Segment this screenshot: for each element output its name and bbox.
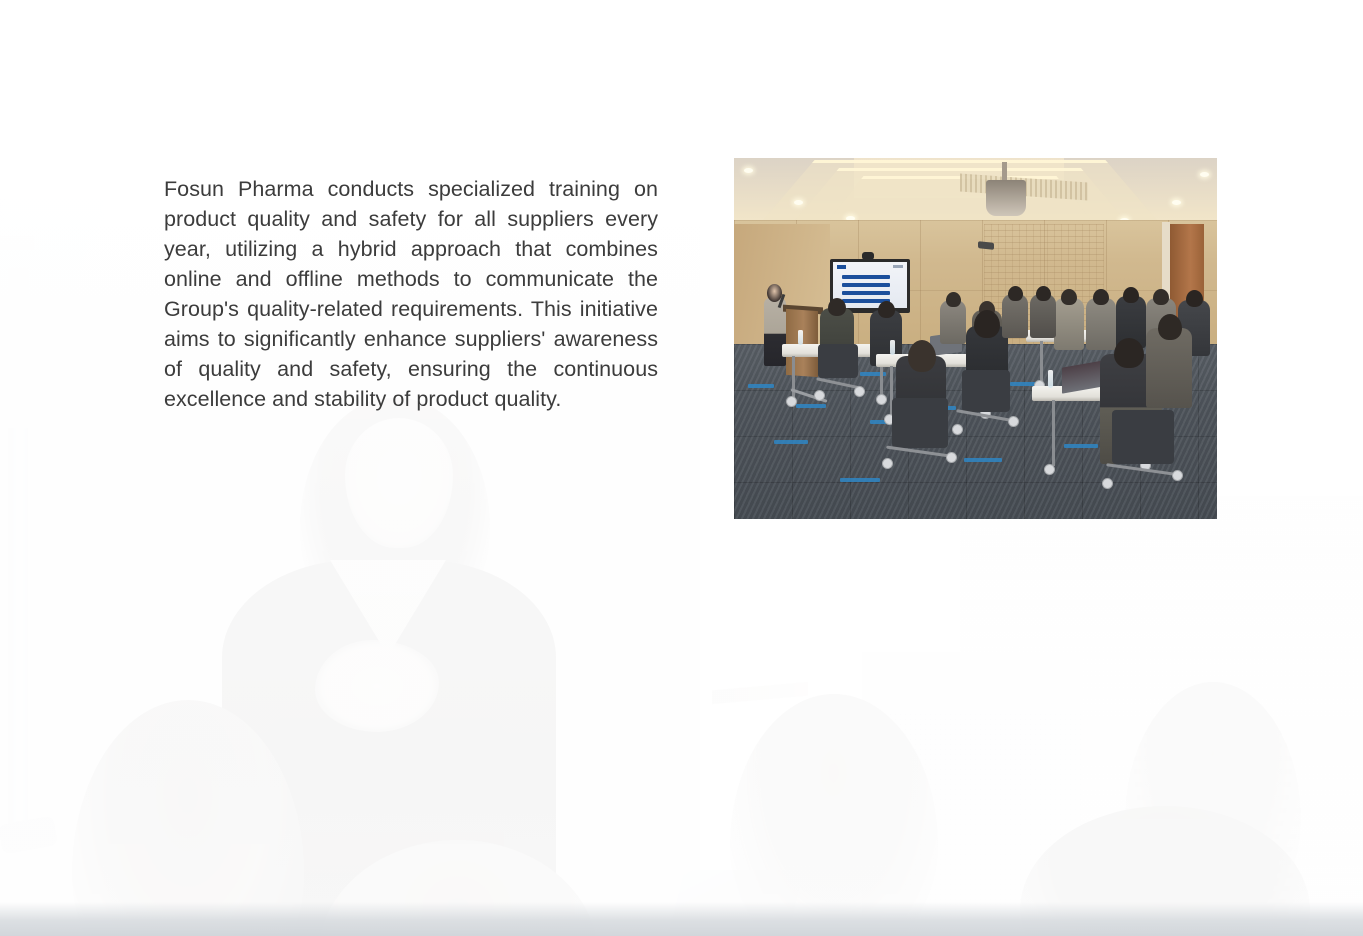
photo-attendee-head: [908, 340, 936, 372]
body-paragraph: Fosun Pharma conducts specialized traini…: [164, 174, 658, 414]
photo-carpet-stripe: [840, 478, 880, 482]
photo-carpet-stripe: [796, 404, 826, 408]
background-whiteboard-stand: [8, 268, 28, 848]
photo-chair: [892, 398, 948, 448]
photo-water-bottle: [798, 330, 803, 345]
background-presenter-face: [345, 418, 453, 548]
photo-downlight: [1200, 172, 1209, 177]
photo-attendee-head: [1153, 289, 1169, 305]
photo-attendee-head: [1093, 289, 1109, 305]
photo-attendee-head: [1061, 289, 1077, 305]
photo-table-leg: [1040, 341, 1043, 383]
photo-attendee-head: [1114, 338, 1144, 368]
photo-attendee-head: [828, 298, 846, 316]
training-session-photo: [734, 158, 1217, 519]
photo-chair: [1112, 410, 1174, 464]
photo-chair-caster: [946, 452, 957, 463]
photo-downlight: [794, 200, 803, 205]
photo-carpet-stripe: [748, 384, 774, 388]
photo-attendee-head: [1123, 287, 1139, 303]
photo-slide-logo: [837, 265, 846, 269]
photo-attendee-head: [974, 310, 1000, 338]
photo-chair-caster: [1102, 478, 1113, 489]
photo-table-leg: [1052, 400, 1055, 466]
photo-table-caster: [786, 396, 797, 407]
photo-downlight: [1172, 200, 1181, 205]
photo-projector: [986, 180, 1026, 216]
photo-chair-caster: [882, 458, 893, 469]
photo-attendee-head: [1008, 286, 1023, 301]
photo-downlight: [744, 168, 753, 173]
photo-attendee-head: [946, 292, 961, 307]
photo-attendee-head: [1186, 290, 1203, 307]
photo-attendee: [1086, 298, 1116, 350]
photo-slide-bullet: [842, 283, 890, 287]
photo-water-bottle: [890, 340, 895, 355]
photo-chair: [818, 344, 858, 378]
photo-carpet-stripe: [774, 440, 808, 444]
photo-table-caster: [876, 394, 887, 405]
photo-carpet-stripe: [964, 458, 1002, 462]
photo-attendee-head: [1158, 314, 1182, 340]
photo-carpet-stripe: [1064, 444, 1098, 448]
background-whiteboard-edge: [0, 236, 34, 250]
photo-table-caster: [1044, 464, 1055, 475]
photo-slide-bullet: [842, 275, 890, 279]
photo-chair-caster: [1008, 416, 1019, 427]
photo-chair-caster: [814, 390, 825, 401]
page-root: Fosun Pharma conducts specialized traini…: [0, 0, 1363, 936]
photo-slide-logo-right: [893, 265, 903, 268]
photo-chair-caster: [1172, 470, 1183, 481]
photo-attendee: [1054, 298, 1084, 350]
background-bottom-band: [0, 902, 1363, 936]
photo-slide-bullet: [842, 291, 890, 295]
background-shelf: [712, 682, 808, 704]
photo-chair-caster: [952, 424, 963, 435]
photo-chair: [962, 370, 1010, 412]
photo-attendee: [1146, 328, 1192, 408]
photo-water-bottle: [1048, 370, 1053, 388]
photo-attendee-head: [1036, 286, 1051, 301]
photo-attendee-head: [878, 301, 895, 318]
photo-chair-caster: [854, 386, 865, 397]
